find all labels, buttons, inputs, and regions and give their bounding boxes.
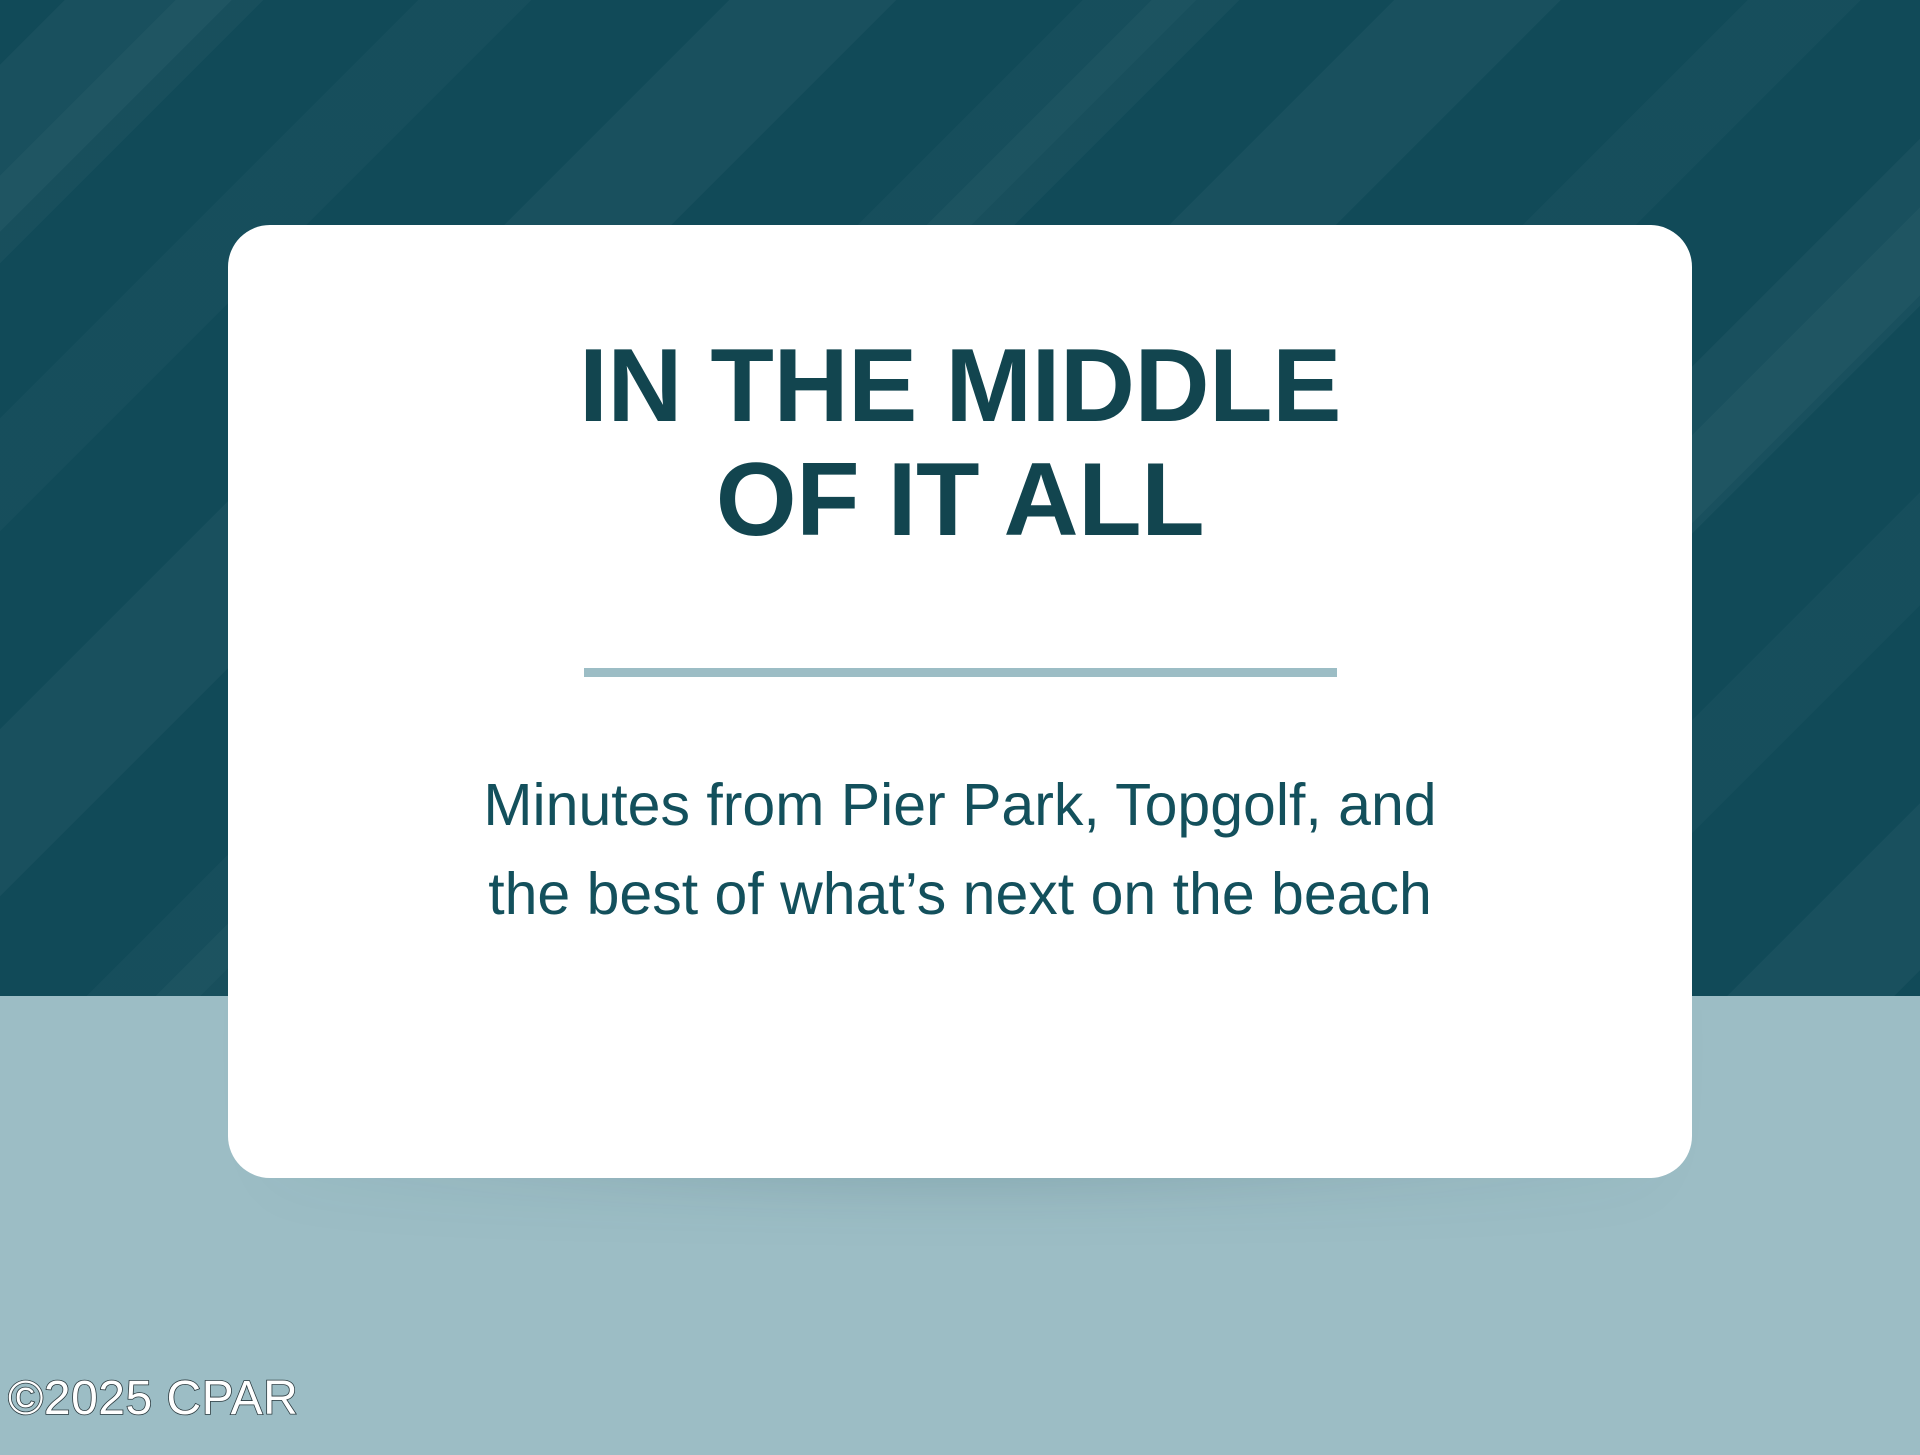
- slide-canvas: IN THE MIDDLE OF IT ALL Minutes from Pie…: [0, 0, 1920, 1455]
- page-subtitle: Minutes from Pier Park, Topgolf, and the…: [483, 761, 1436, 939]
- card-content-wrapper: IN THE MIDDLE OF IT ALL Minutes from Pie…: [228, 225, 1692, 1178]
- page-title-line-1: IN THE MIDDLE: [579, 329, 1341, 443]
- title-divider-rule: [584, 668, 1337, 677]
- page-title-line-2: OF IT ALL: [579, 443, 1341, 557]
- content-card: IN THE MIDDLE OF IT ALL Minutes from Pie…: [228, 225, 1692, 1178]
- page-subtitle-line-1: Minutes from Pier Park, Topgolf, and: [483, 761, 1436, 850]
- page-subtitle-line-2: the best of what’s next on the beach: [483, 850, 1436, 939]
- copyright-watermark: ©2025 CPAR: [8, 1372, 298, 1426]
- page-title: IN THE MIDDLE OF IT ALL: [579, 329, 1341, 557]
